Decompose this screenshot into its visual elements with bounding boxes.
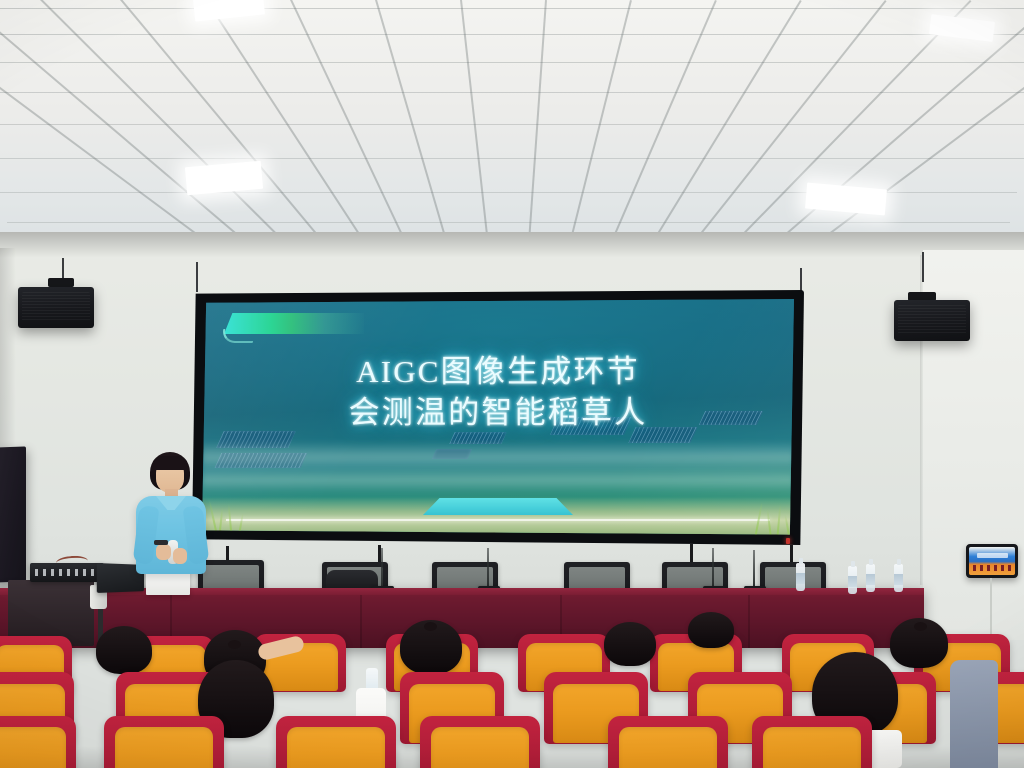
tripod-pole [990,578,992,640]
presentation-screen: AIGC图像生成环节 会测温的智能稻草人 [192,290,804,547]
speaker-brand-label [931,331,933,336]
presenter [128,452,214,602]
mixer-knobs[interactable] [35,569,99,576]
presenter-left-hand [156,544,171,560]
ceiling [0,0,1024,252]
student-sleeve [950,660,998,768]
table-drape-fold [360,595,362,648]
ceiling-light-panel [805,183,887,216]
student-head [688,612,734,648]
speaker-grille [22,292,90,322]
water-bottle [866,564,875,592]
gooseneck-microphone [712,548,714,588]
speaker-wire-left [62,258,64,280]
auditorium-seat [104,716,224,768]
student-head [96,626,152,674]
ceiling-grid-line [7,222,1010,223]
seat-cushion [115,727,213,768]
student-head [604,622,656,666]
slide-horizon-line [226,519,771,521]
screen-power-led [786,538,790,544]
water-bottle [848,566,857,594]
auditorium-seat [608,716,728,768]
speaker-brand-label [55,318,57,323]
auditorium-seat [420,716,540,768]
bottle-label [796,573,805,584]
ceiling-grid-line [0,92,1024,93]
gooseneck-microphone [487,548,489,588]
ceiling-grid-line [512,0,1024,252]
hair-tie [914,622,927,631]
ceiling-grid-line [375,0,514,252]
ceiling-grid-line [512,0,547,252]
auditorium-seat [0,716,76,768]
seat-cushion [763,727,861,768]
ceiling-grid-line [460,0,514,252]
bottle-label [848,576,857,587]
ceiling-grid-line [512,0,1024,252]
ceiling-grid-line [0,34,1024,35]
gooseneck-microphone [381,548,383,588]
auditorium-seat [276,716,396,768]
glowing-platform [423,498,573,515]
speaker-grille [898,305,966,335]
presenter-right-hand [173,548,187,564]
ceiling-grid-line [0,124,1024,125]
ceiling-light-panel [193,0,265,22]
seat-cushion [619,727,717,768]
ceiling-grid-line [0,62,1024,63]
slide-title-line2: 会测温的智能稻草人 [202,392,794,433]
bottle-label [866,574,875,585]
speaker-wire-right [922,252,924,282]
smartphone-on-tripod[interactable] [966,544,1018,578]
screen-mount-wire-left [196,262,198,292]
ceiling-light-panel [929,14,995,42]
slide-title: AIGC图像生成环节 会测温的智能稻草人 [202,351,794,433]
ceiling-grid-line [0,8,1024,9]
seat-cushion [431,727,529,768]
water-bottle [894,564,903,592]
hair-tie [424,622,437,631]
ceiling-grid-line [290,0,513,252]
atmosphere-mist [202,467,794,493]
ceiling-grid-line [512,0,971,252]
ceiling-grid-line [512,0,801,252]
seat-cushion [0,727,66,768]
screen-display-area: AIGC图像生成环节 会测温的智能稻草人 [202,299,794,537]
phone-screen [969,547,1015,575]
ceiling-grid-line [205,0,513,252]
presenter-fringe [152,456,188,470]
bottle-label [894,574,903,585]
gooseneck-microphone [753,550,755,588]
wall-top-shadow [0,232,1024,258]
ceiling-light-panel [185,161,263,196]
slide-title-line1: AIGC图像生成环节 [202,351,794,392]
wall-speaker-left [18,287,94,328]
hair-tie [228,640,241,649]
phone-screen-seats [973,565,1012,571]
ceiling-grid-line [120,0,513,252]
water-bottle [796,563,805,591]
dark-display-panel [0,446,26,582]
auditorium-seat [752,716,872,768]
table-drape-fold [748,595,750,648]
wall-speaker-right [894,300,970,341]
wristwatch [154,540,168,545]
lecture-hall-photo: AIGC图像生成环节 会测温的智能稻草人 [0,0,1024,768]
seat-cushion [287,727,385,768]
speaker-bracket-left [48,278,74,287]
phone-screen-banner [977,553,1007,557]
audio-mixer[interactable] [30,563,104,582]
